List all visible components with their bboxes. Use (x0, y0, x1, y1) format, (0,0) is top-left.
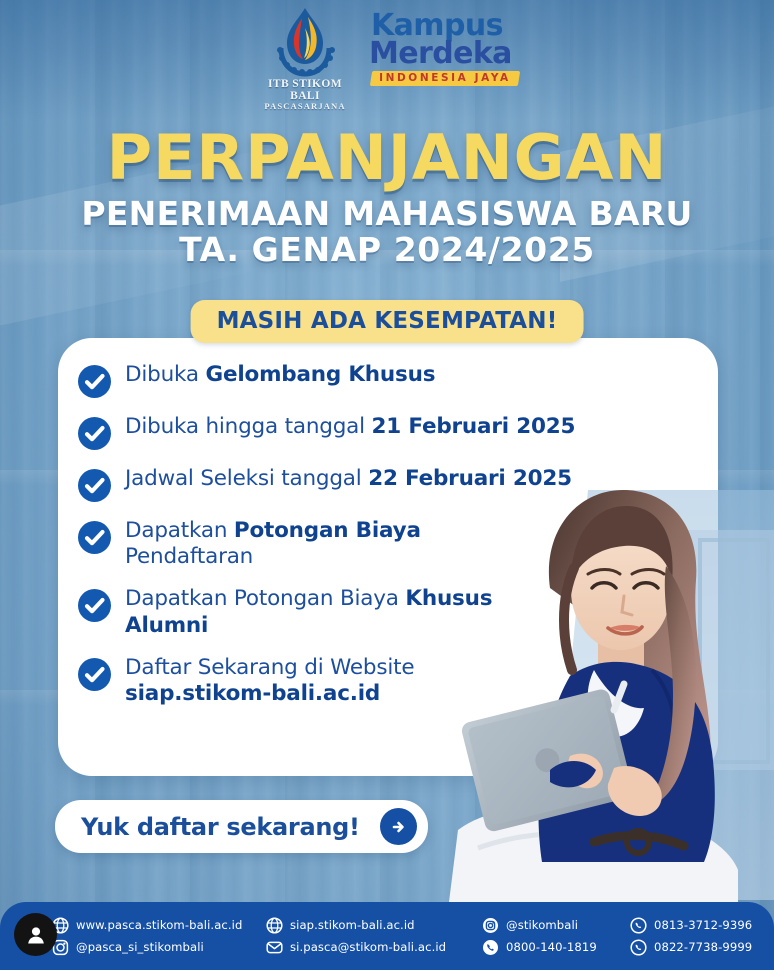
headline-sub1: PENERIMAAN MAHASISWA BARU (0, 197, 774, 232)
contact-row[interactable]: siap.stikom-bali.ac.id (266, 917, 482, 934)
poster-root: ITB STIKOM BALI PASCASARJANA Kampus Merd… (0, 0, 774, 970)
benefit-plain: Daftar Sekarang di Website (125, 655, 414, 680)
contact-column: siap.stikom-bali.ac.id si.pasca@stikom-b… (266, 917, 482, 956)
list-item-text: Dapatkan Potongan Biaya Pendaftaran (125, 518, 425, 570)
logo-secondary-ribbon: INDONESIA JAYA (370, 71, 520, 86)
whatsapp-icon (630, 917, 647, 934)
arrow-right-icon[interactable] (380, 808, 417, 845)
contact-text: siap.stikom-bali.ac.id (290, 918, 415, 932)
contact-column: 0813-3712-9396 0822-7738-9999 (630, 917, 752, 956)
benefit-plain: Jadwal Seleksi tanggal (125, 466, 368, 491)
student-photo (438, 470, 774, 910)
whatsapp-icon (630, 939, 647, 956)
benefit-plain: Dibuka hingga tanggal (125, 414, 372, 439)
contact-text: 0800-140-1819 (506, 940, 597, 954)
benefit-bold: 21 Februari 2025 (372, 414, 576, 439)
contact-column: @stikombali 0800-140-1819 (482, 917, 630, 956)
contact-row[interactable]: @pasca_si_stikombali (52, 939, 266, 956)
contact-text: 0822-7738-9999 (654, 940, 752, 954)
logo-itb-stikom-bali: ITB STIKOM BALI PASCASARJANA (253, 6, 357, 112)
check-circle-icon (78, 417, 111, 450)
logo-kampus-merdeka: Kampus Merdeka INDONESIA JAYA (371, 6, 521, 86)
email-icon (266, 939, 283, 956)
contact-row[interactable]: 0822-7738-9999 (630, 939, 752, 956)
list-item-text: Dibuka Gelombang Khusus (125, 362, 435, 388)
flame-icon (253, 6, 357, 78)
instagram-icon (482, 917, 499, 934)
check-circle-icon (78, 589, 111, 622)
contact-row[interactable]: si.pasca@stikom-bali.ac.id (266, 939, 482, 956)
logo-primary-subtitle: PASCASARJANA (253, 102, 357, 112)
status-badge-label: MASIH ADA KESEMPATAN! (217, 308, 558, 334)
contact-row[interactable]: 0800-140-1819 (482, 939, 630, 956)
benefit-plain-2: Pendaftaran (125, 544, 253, 569)
check-circle-icon (78, 469, 111, 502)
list-item: Dibuka hingga tanggal 21 Februari 2025 (78, 414, 678, 450)
benefit-bold: siap.stikom-bali.ac.id (125, 681, 380, 706)
check-circle-icon (78, 658, 111, 691)
logo-secondary-ribbon-label: INDONESIA JAYA (379, 72, 511, 84)
headline-main: PERPANJANGAN (0, 128, 774, 189)
logo-secondary-line2: Merdeka (369, 40, 521, 69)
benefit-plain: Dapatkan (125, 518, 234, 543)
header-logos: ITB STIKOM BALI PASCASARJANA Kampus Merd… (0, 6, 774, 112)
benefit-bold: Potongan Biaya (234, 518, 421, 543)
register-cta-button[interactable]: Yuk daftar sekarang! (55, 800, 428, 853)
contact-row[interactable]: www.pasca.stikom-bali.ac.id (52, 917, 266, 934)
benefit-plain: Dapatkan Potongan Biaya (125, 586, 405, 611)
globe-icon (266, 917, 283, 934)
contact-text: 0813-3712-9396 (654, 918, 752, 932)
contact-row[interactable]: 0813-3712-9396 (630, 917, 752, 934)
contact-text: si.pasca@stikom-bali.ac.id (290, 940, 446, 954)
check-circle-icon (78, 365, 111, 398)
contact-column: www.pasca.stikom-bali.ac.id @pasca_si_st… (52, 917, 266, 956)
contact-footer: www.pasca.stikom-bali.ac.id @pasca_si_st… (0, 902, 774, 970)
contact-text: @stikombali (506, 918, 578, 932)
headline-block: PERPANJANGAN PENERIMAAN MAHASISWA BARU T… (0, 128, 774, 268)
register-cta-label: Yuk daftar sekarang! (81, 813, 360, 841)
status-badge: MASIH ADA KESEMPATAN! (191, 300, 584, 343)
check-circle-icon (78, 521, 111, 554)
contact-text: @pasca_si_stikombali (76, 940, 204, 954)
contact-columns: www.pasca.stikom-bali.ac.id @pasca_si_st… (0, 917, 774, 956)
contact-text: www.pasca.stikom-bali.ac.id (76, 918, 242, 932)
phone-icon (482, 939, 499, 956)
headline-sub2: TA. GENAP 2024/2025 (0, 233, 774, 268)
logo-primary-name: ITB STIKOM BALI (253, 78, 357, 102)
contact-row[interactable]: @stikombali (482, 917, 630, 934)
benefit-bold: Gelombang Khusus (206, 362, 436, 387)
list-item: Dibuka Gelombang Khusus (78, 362, 678, 398)
benefit-plain: Dibuka (125, 362, 206, 387)
avatar[interactable] (14, 913, 57, 956)
list-item-text: Dibuka hingga tanggal 21 Februari 2025 (125, 414, 575, 440)
